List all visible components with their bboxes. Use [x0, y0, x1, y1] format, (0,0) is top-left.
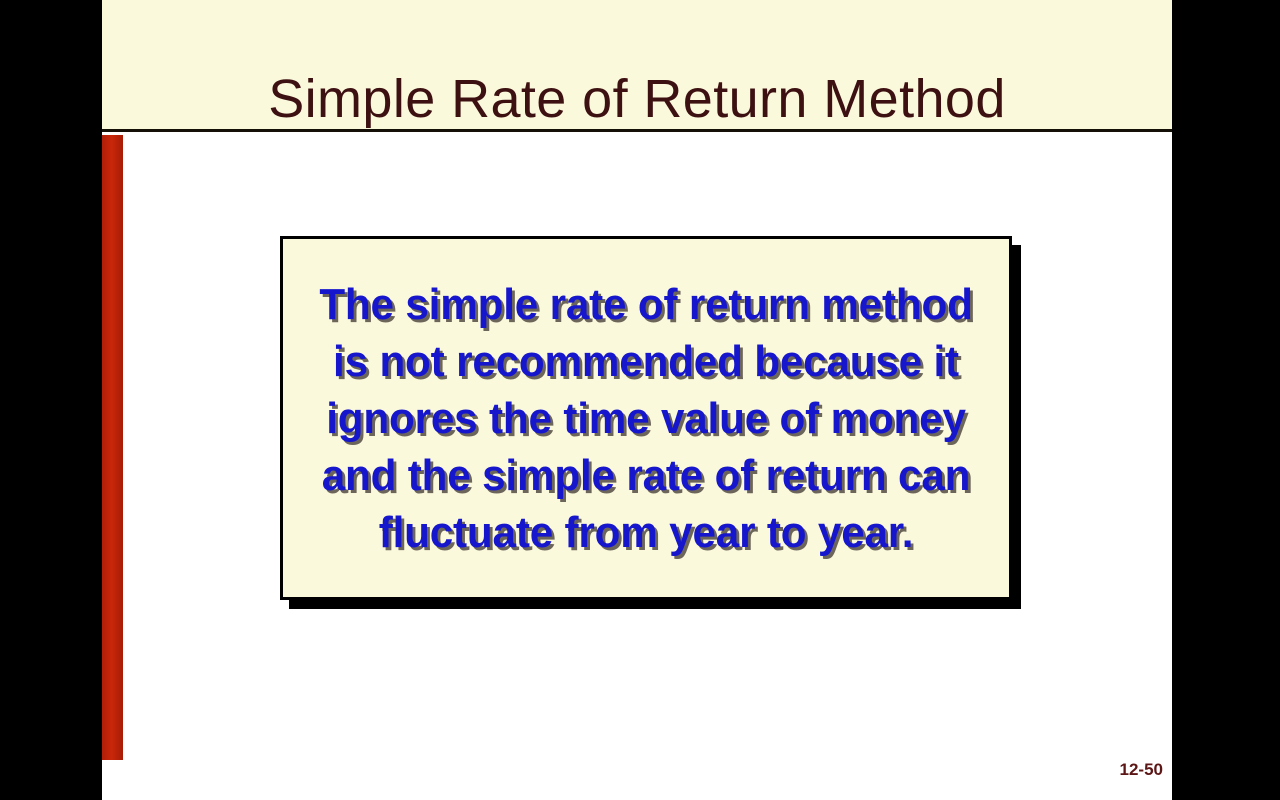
statement-text: The simple rate of return method is not …: [298, 276, 995, 561]
page-number: 12-50: [1120, 760, 1163, 780]
statement-callout-box: The simple rate of return method is not …: [280, 236, 1012, 600]
title-band: Simple Rate of Return Method: [102, 0, 1172, 132]
statement-callout: The simple rate of return method is not …: [280, 236, 1012, 600]
slide-canvas: Simple Rate of Return Method The simple …: [102, 0, 1172, 800]
left-accent-bar: [102, 135, 123, 760]
slide-root: Simple Rate of Return Method The simple …: [0, 0, 1280, 800]
